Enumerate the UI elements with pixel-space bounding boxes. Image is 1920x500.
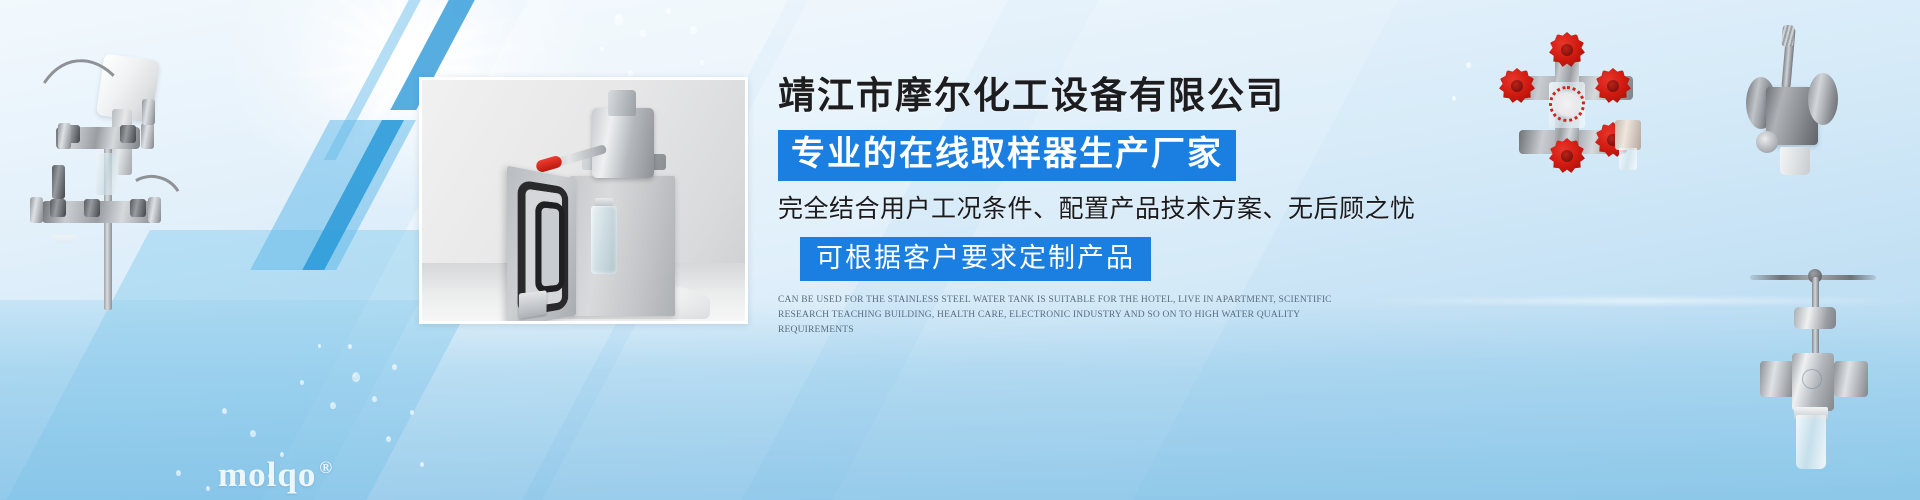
equipment-cross-valve — [1483, 30, 1663, 170]
brand-watermark: molqo® — [218, 455, 333, 495]
photo-door-window — [535, 200, 564, 294]
relief-valve — [52, 165, 65, 199]
photo-cabinet-door — [507, 166, 576, 324]
bottom-valve-logo-seal — [1802, 369, 1822, 389]
handwheel-left — [1499, 68, 1535, 104]
product-photo — [419, 77, 748, 324]
photo-cabinet-vents — [732, 322, 748, 324]
handwheel-right — [1595, 68, 1631, 104]
handwheel-top — [1549, 32, 1585, 68]
cross-receiver-housing — [1615, 120, 1641, 150]
fineprint-text: CAN BE USED FOR THE STAINLESS STEEL WATE… — [778, 293, 1378, 337]
photo-cabinet-body — [570, 176, 675, 316]
bottom-valve-bonnet — [1794, 307, 1836, 329]
bottom-valve-flange-left — [1760, 361, 1794, 397]
cross-sample-vial — [1619, 148, 1637, 170]
registered-trademark-icon: ® — [319, 458, 333, 477]
equipment-bottom-valve — [1756, 265, 1920, 480]
flanged-valve-lever-grip — [1781, 25, 1795, 48]
flange-right-upper — [141, 123, 154, 149]
handwheel-hub-right — [1607, 80, 1619, 92]
watermark-wordmark: molqo — [218, 455, 316, 494]
flange-left-lower — [30, 197, 43, 223]
equipment-flanged-valve — [1740, 25, 1920, 225]
flanged-valve-dial — [1756, 131, 1778, 153]
promotional-banner: 靖江市摩尔化工设备有限公司 专业的在线取样器生产厂家 完全结合用户工况条件、配置… — [0, 0, 1920, 500]
equipment-left-sampler — [8, 25, 188, 305]
bottom-valve-flange-right — [1834, 361, 1868, 397]
photo-sample-bottle — [591, 206, 617, 274]
flange-upper-right-arm — [142, 99, 155, 125]
photo-door-latch — [519, 290, 547, 319]
tagline-highlight: 可根据客户要求定制产品 — [800, 237, 1151, 281]
vent-hole — [732, 322, 737, 324]
headline-highlight: 专业的在线取样器生产厂家 — [778, 130, 1236, 181]
bottom-valve-sample-vessel — [1796, 415, 1826, 469]
flanged-valve-sample-cup — [1780, 147, 1810, 175]
copy-block: 靖江市摩尔化工设备有限公司 专业的在线取样器生产厂家 完全结合用户工况条件、配置… — [778, 78, 1398, 337]
company-name: 靖江市摩尔化工设备有限公司 — [778, 78, 1398, 117]
photo-valve-body — [592, 108, 654, 178]
handwheel-bottom — [1549, 138, 1585, 174]
photo-valve-bonnet — [608, 90, 636, 116]
handwheel-hub-left — [1511, 80, 1523, 92]
cross-certification-seal — [1549, 86, 1585, 122]
subline-text: 完全结合用户工况条件、配置产品技术方案、无后顾之忧 — [778, 194, 1398, 224]
handwheel-hub-bottom — [1561, 150, 1573, 162]
flanged-valve-flange-right — [1808, 73, 1838, 125]
handwheel-hub-top — [1561, 44, 1573, 56]
sample-cup — [52, 235, 76, 243]
